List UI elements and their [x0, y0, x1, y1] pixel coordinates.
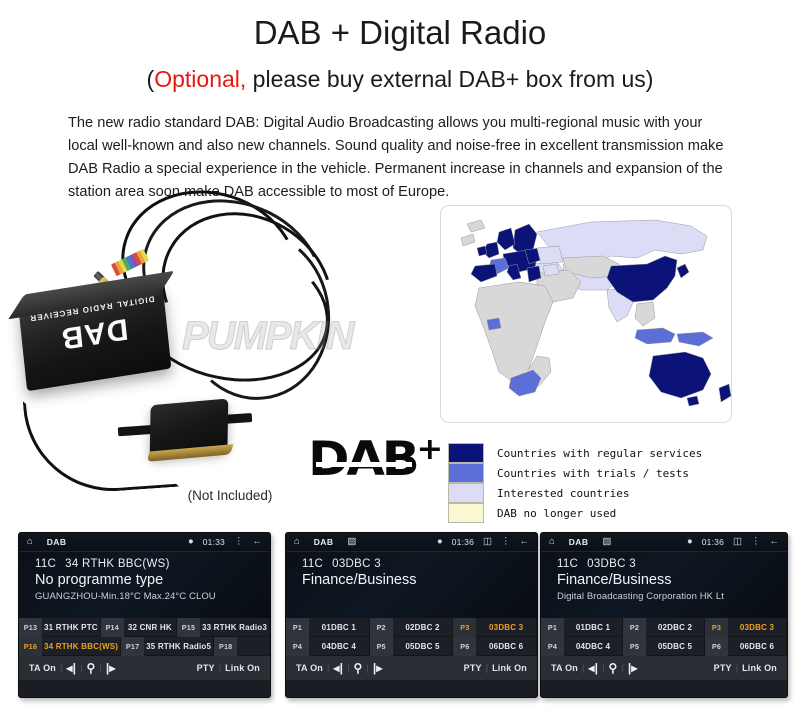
- dab-plus-logo: DAB+: [308, 432, 443, 487]
- preset-cell[interactable]: P1 01DBC 1: [541, 618, 623, 637]
- legend-label: Interested countries: [497, 487, 629, 500]
- preset-label: 03DBC 3: [728, 623, 786, 632]
- preset-grid: P13 31 RTHK PTC P14 32 CNR HK P15 33 RTH…: [19, 618, 270, 656]
- radio-screenshot-1[interactable]: ⌂ DAB ● 01:33 ⋮ ← 11C34 RTHK BBC(WS) No …: [18, 532, 271, 698]
- legend-item: DAB no longer used: [448, 503, 702, 523]
- preset-label: 02DBC 2: [393, 623, 453, 632]
- preset-number: P13: [19, 618, 42, 637]
- preset-row: P4 04DBC 4 P5 05DBC 5 P6 06DBC 6: [541, 637, 787, 656]
- radio-screenshot-3[interactable]: ⌂ DAB ▧ ● 01:36 ◫ ⋮ ← 11C03DBC 3 Finance…: [540, 532, 788, 698]
- page-subtitle: (Optional, please buy external DAB+ box …: [0, 66, 800, 93]
- preset-grid: P1 01DBC 1 P2 02DBC 2 P3 03DBC 3 P4: [286, 618, 537, 656]
- dab-plus-logo-stripe: [316, 462, 412, 467]
- now-playing-ensemble: 11C: [35, 558, 56, 570]
- preset-cell-active[interactable]: P16 34 RTHK BBC(WS): [19, 637, 121, 656]
- toolbar-divider: |: [215, 663, 225, 673]
- toolbar-divider: |: [56, 663, 66, 673]
- not-included-caption: (Not Included): [140, 488, 320, 503]
- pty-button[interactable]: PTY: [464, 663, 482, 673]
- status-clock: 01:36: [702, 537, 724, 547]
- back-arrow-icon[interactable]: ←: [520, 537, 530, 547]
- preset-number: P16: [19, 637, 42, 656]
- preset-number: P1: [286, 618, 309, 637]
- preset-number: P3: [705, 618, 728, 637]
- preset-number: P5: [370, 637, 393, 656]
- link-toggle-button[interactable]: Link On: [225, 663, 260, 673]
- preset-label: 06DBC 6: [728, 642, 786, 651]
- location-pin-icon: ●: [687, 537, 693, 547]
- player-toolbar: TA On | ◂| | ⚲ | |▸ PTY | Link On: [541, 656, 787, 680]
- dab-plus-logo-text: DAB: [308, 432, 416, 487]
- legend-swatch-interested: [448, 483, 484, 503]
- preset-cell[interactable]: P15 33 RTHK Radio3: [177, 618, 270, 637]
- preset-row: P1 01DBC 1 P2 02DBC 2 P3 03DBC 3: [541, 618, 787, 637]
- preset-number: P3: [453, 618, 476, 637]
- preset-row: P4 04DBC 4 P5 05DBC 5 P6 06DBC 6: [286, 637, 537, 656]
- screenshot-icon[interactable]: ▧: [347, 537, 356, 547]
- sd-card-icon: ◫: [483, 537, 492, 547]
- page-root: DAB + Digital Radio (Optional, please bu…: [0, 0, 800, 708]
- preset-number: P18: [214, 637, 237, 656]
- preset-label: 05DBC 5: [646, 642, 704, 651]
- preset-cell[interactable]: P5 05DBC 5: [623, 637, 705, 656]
- legend-swatch-trials: [448, 463, 484, 483]
- overflow-menu-icon[interactable]: ⋮: [501, 537, 511, 547]
- preset-cell[interactable]: P4 04DBC 4: [541, 637, 623, 656]
- status-clock: 01:33: [203, 537, 225, 547]
- ta-toggle-button[interactable]: TA On: [551, 663, 578, 673]
- preset-number: P17: [121, 637, 144, 656]
- next-track-icon[interactable]: |▸: [373, 661, 383, 675]
- previous-track-icon[interactable]: ◂|: [333, 661, 343, 675]
- preset-number: P15: [177, 618, 200, 637]
- preset-row: P16 34 RTHK BBC(WS) P17 35 RTHK Radio5 P…: [19, 637, 270, 656]
- status-bar: ⌂ DAB ▧ ● 01:36 ◫ ⋮ ←: [541, 533, 787, 552]
- preset-label: 06DBC 6: [476, 642, 536, 651]
- preset-label: 01DBC 1: [309, 623, 369, 632]
- now-playing-radiotext: Digital Broadcasting Corporation HK Lt: [557, 591, 772, 602]
- back-arrow-icon[interactable]: ←: [770, 537, 780, 547]
- preset-number: P4: [541, 637, 564, 656]
- legend-swatch-regular: [448, 443, 484, 463]
- dab-receiver-box: DIGITAL RADIO RECEIVER DAB: [19, 287, 172, 392]
- now-playing-channel-row: 11C03DBC 3: [302, 558, 537, 570]
- home-icon[interactable]: ⌂: [294, 537, 300, 547]
- preset-label: 01DBC 1: [564, 623, 622, 632]
- legend-label: DAB no longer used: [497, 507, 616, 520]
- link-toggle-button[interactable]: Link On: [492, 663, 527, 673]
- preset-label: 31 RTHK PTC: [42, 623, 100, 632]
- preset-cell-active[interactable]: P3 03DBC 3: [453, 618, 537, 637]
- home-icon[interactable]: ⌂: [549, 537, 555, 547]
- preset-label: 32 CNR HK: [124, 623, 176, 632]
- toolbar-divider: |: [95, 663, 105, 673]
- overflow-menu-icon[interactable]: ⋮: [234, 537, 244, 547]
- preset-cell[interactable]: P6 06DBC 6: [705, 637, 787, 656]
- next-track-icon[interactable]: |▸: [628, 661, 638, 675]
- location-pin-icon: ●: [437, 537, 443, 547]
- body-paragraph: The new radio standard DAB: Digital Audi…: [68, 112, 734, 204]
- status-bar: ⌂ DAB ● 01:33 ⋮ ←: [19, 533, 270, 552]
- preset-cell[interactable]: P2 02DBC 2: [370, 618, 454, 637]
- world-map-svg: [441, 206, 732, 423]
- now-playing-area: 11C03DBC 3 Finance/Business Digital Broa…: [541, 552, 787, 618]
- subtitle-rest: please buy external DAB+ box from us): [246, 66, 653, 92]
- legend-label: Countries with trials / tests: [497, 467, 689, 480]
- preset-label: 04DBC 4: [309, 642, 369, 651]
- player-toolbar: TA On | ◂| | ⚲ | |▸ PTY | Link On: [286, 656, 537, 680]
- toolbar-divider: |: [482, 663, 492, 673]
- now-playing-radiotext: GUANGZHOU-Min.18°C Max.24°C CLOU: [35, 591, 250, 602]
- screenshot-icon[interactable]: ▧: [602, 537, 611, 547]
- toolbar-divider: |: [323, 663, 333, 673]
- sd-card-icon: ◫: [733, 537, 742, 547]
- now-playing-programme-type: Finance/Business: [302, 572, 537, 588]
- scan-search-icon[interactable]: ⚲: [353, 661, 362, 675]
- legend-swatch-discontinued: [448, 503, 484, 523]
- preset-cell[interactable]: P2 02DBC 2: [623, 618, 705, 637]
- now-playing-ensemble: 11C: [557, 558, 578, 570]
- preset-label: 34 RTHK BBC(WS): [42, 642, 120, 651]
- radio-screenshot-2[interactable]: ⌂ DAB ▧ ● 01:36 ◫ ⋮ ← 11C03DBC 3 Finance…: [285, 532, 538, 698]
- preset-label: 05DBC 5: [393, 642, 453, 651]
- toolbar-divider: |: [732, 663, 742, 673]
- status-app-name: DAB: [314, 537, 334, 547]
- preset-cell[interactable]: P14 32 CNR HK: [101, 618, 177, 637]
- previous-track-icon[interactable]: ◂|: [66, 661, 76, 675]
- status-app-name: DAB: [569, 537, 589, 547]
- dab-plus-logo-plus: +: [417, 432, 444, 467]
- toolbar-divider: |: [343, 663, 353, 673]
- toolbar-divider: |: [617, 663, 627, 673]
- preset-number: P5: [623, 637, 646, 656]
- preset-number: P1: [541, 618, 564, 637]
- home-icon[interactable]: ⌂: [27, 537, 33, 547]
- now-playing-area: 11C03DBC 3 Finance/Business: [286, 552, 537, 618]
- legend-item: Countries with trials / tests: [448, 463, 702, 483]
- preset-label: 35 RTHK Radio5: [144, 642, 213, 651]
- now-playing-station: 03DBC 3: [332, 558, 381, 570]
- legend-item: Countries with regular services: [448, 443, 702, 463]
- page-title: DAB + Digital Radio: [0, 14, 800, 52]
- preset-row: P1 01DBC 1 P2 02DBC 2 P3 03DBC 3: [286, 618, 537, 637]
- preset-number: P2: [623, 618, 646, 637]
- ta-toggle-button[interactable]: TA On: [296, 663, 323, 673]
- preset-row: P13 31 RTHK PTC P14 32 CNR HK P15 33 RTH…: [19, 618, 270, 637]
- toolbar-divider: |: [76, 663, 86, 673]
- toolbar-divider: |: [362, 663, 372, 673]
- now-playing-channel-row: 11C03DBC 3: [557, 558, 787, 570]
- toolbar-divider: |: [578, 663, 588, 673]
- back-arrow-icon[interactable]: ←: [253, 537, 263, 547]
- now-playing-station: 03DBC 3: [587, 558, 636, 570]
- preset-cell[interactable]: P4 04DBC 4: [286, 637, 370, 656]
- preset-number: P2: [370, 618, 393, 637]
- legend-label: Countries with regular services: [497, 447, 702, 460]
- previous-track-icon[interactable]: ◂|: [588, 661, 598, 675]
- status-app-name: DAB: [47, 537, 67, 547]
- now-playing-programme-type: No programme type: [35, 572, 270, 588]
- subtitle-optional-word: Optional,: [154, 66, 246, 92]
- now-playing-station: 34 RTHK BBC(WS): [65, 558, 170, 570]
- preset-number: P6: [705, 637, 728, 656]
- preset-label: 03DBC 3: [476, 623, 536, 632]
- preset-number: P14: [101, 618, 124, 637]
- now-playing-ensemble: 11C: [302, 558, 323, 570]
- status-bar: ⌂ DAB ▧ ● 01:36 ◫ ⋮ ←: [286, 533, 537, 552]
- preset-cell[interactable]: P5 05DBC 5: [370, 637, 454, 656]
- pty-button[interactable]: PTY: [197, 663, 215, 673]
- preset-label: 04DBC 4: [564, 642, 622, 651]
- preset-cell[interactable]: P13 31 RTHK PTC: [19, 618, 101, 637]
- link-toggle-button[interactable]: Link On: [742, 663, 777, 673]
- preset-cell[interactable]: P6 06DBC 6: [453, 637, 537, 656]
- preset-cell[interactable]: P1 01DBC 1: [286, 618, 370, 637]
- map-legend: Countries with regular services Countrie…: [448, 443, 702, 523]
- now-playing-channel-row: 11C34 RTHK BBC(WS): [35, 558, 270, 570]
- status-clock: 01:36: [452, 537, 474, 547]
- preset-cell[interactable]: P18: [214, 637, 270, 656]
- location-pin-icon: ●: [188, 537, 194, 547]
- preset-cell-active[interactable]: P3 03DBC 3: [705, 618, 787, 637]
- player-toolbar: TA On | ◂| | ⚲ | |▸ PTY | Link On: [19, 656, 270, 680]
- pty-button[interactable]: PTY: [714, 663, 732, 673]
- preset-number: P6: [453, 637, 476, 656]
- scan-search-icon[interactable]: ⚲: [608, 661, 617, 675]
- toolbar-divider: |: [598, 663, 608, 673]
- legend-item: Interested countries: [448, 483, 702, 503]
- scan-search-icon[interactable]: ⚲: [86, 661, 95, 675]
- next-track-icon[interactable]: |▸: [106, 661, 116, 675]
- preset-label: 02DBC 2: [646, 623, 704, 632]
- overflow-menu-icon[interactable]: ⋮: [751, 537, 761, 547]
- preset-cell[interactable]: P17 35 RTHK Radio5: [121, 637, 214, 656]
- dab-coverage-map: [440, 205, 732, 423]
- radio-screenshots: ⌂ DAB ● 01:33 ⋮ ← 11C34 RTHK BBC(WS) No …: [0, 532, 800, 708]
- now-playing-programme-type: Finance/Business: [557, 572, 787, 588]
- preset-number: P4: [286, 637, 309, 656]
- preset-grid: P1 01DBC 1 P2 02DBC 2 P3 03DBC 3 P4: [541, 618, 787, 656]
- preset-label: 33 RTHK Radio3: [200, 623, 269, 632]
- ta-toggle-button[interactable]: TA On: [29, 663, 56, 673]
- now-playing-area: 11C34 RTHK BBC(WS) No programme type GUA…: [19, 552, 270, 618]
